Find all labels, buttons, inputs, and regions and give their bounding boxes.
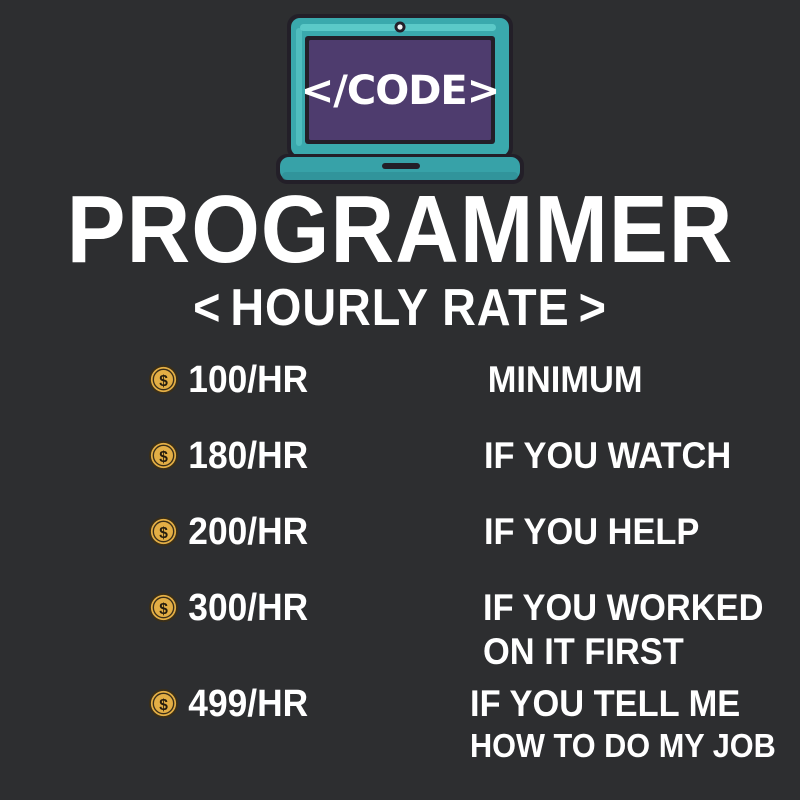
rate-amount: 100/HR [179, 358, 351, 402]
poster-canvas: </CODE> PROGRAMMER <HOURLY RATE> $ [0, 0, 800, 800]
svg-text:$: $ [159, 373, 168, 390]
rate-description-line1: IF YOU WORKED [483, 587, 763, 628]
dollar-coin-icon: $ [148, 592, 179, 623]
rate-row: $ 200/HR IF YOU HELP [0, 510, 800, 586]
rate-description-line1: IF YOU HELP [484, 511, 699, 552]
svg-text:$: $ [159, 449, 168, 466]
right-angle-bracket-icon: > [570, 282, 616, 334]
page-subtitle: <HOURLY RATE> [40, 282, 760, 334]
heading-block: PROGRAMMER <HOURLY RATE> [0, 186, 800, 334]
rate-row: $ 499/HR IF YOU TELL ME HOW TO DO MY JOB [0, 682, 800, 778]
rate-description: MINIMUM [364, 358, 769, 402]
rate-row: $ 300/HR IF YOU WORKED ON IT FIRST [0, 586, 800, 682]
svg-text:$: $ [159, 525, 168, 542]
rate-description: IF YOU HELP [364, 510, 769, 554]
dollar-coin-icon: $ [148, 440, 179, 471]
rate-list: $ 100/HR MINIMUM $ 180/HR IF YOU WATCH [0, 358, 800, 778]
rate-amount: 499/HR [179, 682, 351, 726]
page-subtitle-text: HOURLY RATE [230, 279, 569, 337]
rate-amount: 180/HR [179, 434, 351, 478]
laptop-illustration: </CODE> [0, 8, 800, 190]
svg-text:$: $ [159, 601, 168, 618]
rate-description: IF YOU TELL ME HOW TO DO MY JOB [364, 682, 776, 766]
rate-row: $ 100/HR MINIMUM [0, 358, 800, 434]
rate-amount: 300/HR [179, 586, 351, 630]
rate-amount: 200/HR [179, 510, 351, 554]
dollar-coin-icon: $ [148, 516, 179, 547]
dollar-coin-icon: $ [148, 688, 179, 719]
screen-code-text: </CODE> [301, 68, 500, 114]
dollar-coin-icon: $ [148, 364, 179, 395]
left-angle-bracket-icon: < [184, 282, 230, 334]
laptop-icon: </CODE> [270, 8, 530, 190]
rate-description-line1: IF YOU WATCH [484, 435, 731, 476]
rate-description: IF YOU WORKED ON IT FIRST [364, 586, 769, 674]
rate-description: IF YOU WATCH [364, 434, 769, 478]
rate-description-line1: MINIMUM [488, 359, 643, 400]
rate-description-line2: HOW TO DO MY JOB [470, 726, 776, 766]
rate-description-line2: ON IT FIRST [483, 630, 769, 674]
svg-text:$: $ [159, 697, 168, 714]
rate-description-line1: IF YOU TELL ME [470, 683, 740, 724]
page-title: PROGRAMMER [32, 186, 768, 274]
webcam-lens-icon [397, 24, 402, 29]
laptop-trackpad-notch [382, 163, 420, 169]
rate-row: $ 180/HR IF YOU WATCH [0, 434, 800, 510]
